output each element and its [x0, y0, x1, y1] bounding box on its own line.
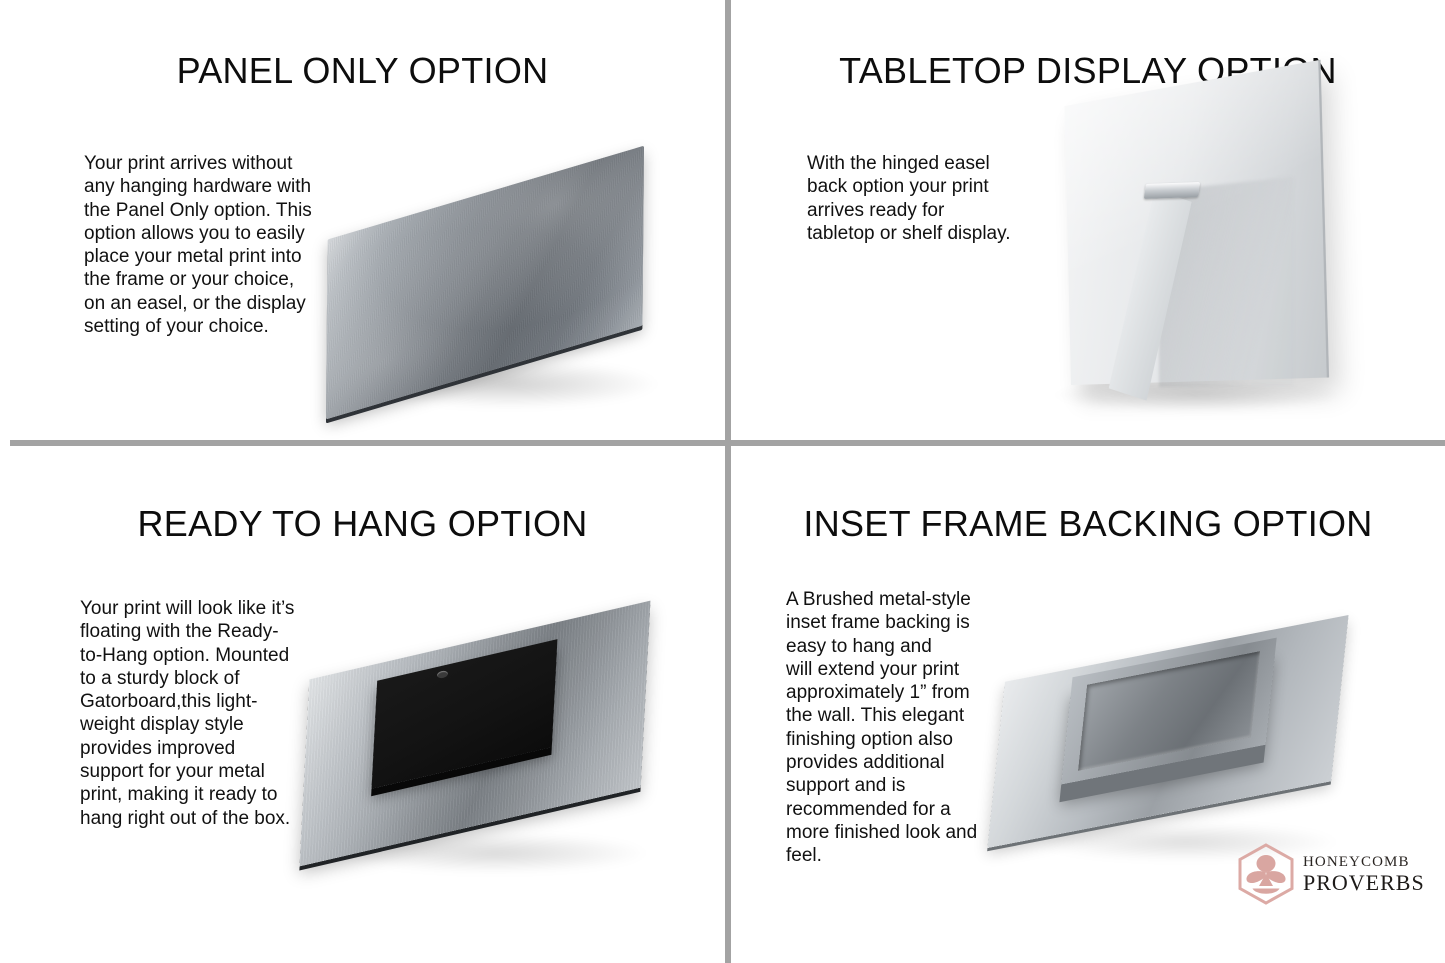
logo-line-honeycomb: HONEYCOMB — [1303, 855, 1425, 870]
logo-line-proverbs: PROVERBS — [1303, 872, 1425, 894]
ready-to-hang-body: Your print will look like it’s floating … — [80, 597, 300, 830]
panel-only-title: PANEL ONLY OPTION — [0, 50, 725, 92]
inset-frame-backing-title: INSET FRAME BACKING OPTION — [731, 503, 1445, 545]
honeycomb-proverbs-logo: HONEYCOMB PROVERBS — [1237, 840, 1437, 908]
inset-frame-photo — [981, 611, 1401, 876]
quadrant-tabletop-display: TABLETOP DISPLAY OPTION With the hinged … — [731, 0, 1445, 440]
product-options-infographic: PANEL ONLY OPTION Your print arrives wit… — [0, 0, 1445, 963]
inset-frame-backing-body: A Brushed metal-style inset frame backin… — [786, 588, 996, 868]
quadrant-panel-only: PANEL ONLY OPTION Your print arrives wit… — [0, 0, 725, 440]
easel-floor-shadow — [1051, 383, 1341, 413]
tabletop-easel-photo — [1041, 95, 1421, 425]
easel-hinge — [1144, 182, 1200, 199]
logo-wordmark: HONEYCOMB PROVERBS — [1303, 855, 1425, 894]
metal-panel-photo — [300, 145, 700, 435]
tabletop-display-body: With the hinged easel back option your p… — [807, 152, 1017, 245]
panel-only-body: Your print arrives without any hanging h… — [84, 152, 316, 338]
hexagon-bee-icon — [1237, 843, 1295, 905]
quadrant-ready-to-hang: READY TO HANG OPTION Your print will loo… — [0, 446, 725, 963]
ready-to-hang-photo — [290, 601, 710, 891]
tabletop-display-title: TABLETOP DISPLAY OPTION — [731, 50, 1445, 92]
ready-to-hang-title: READY TO HANG OPTION — [0, 503, 725, 545]
